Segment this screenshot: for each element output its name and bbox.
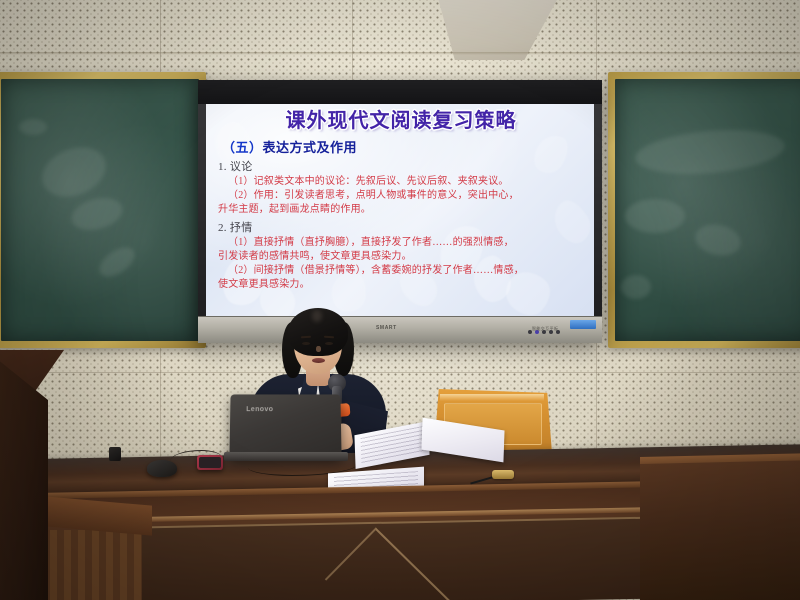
gooseneck-microphone[interactable] [470,470,514,484]
interactive-smartboard[interactable]: 课外现代文阅读复习策略 （五）表达方式及作用 1. 议论 （1）记叙类文本中的议… [198,80,602,342]
slide-line: （2）间接抒情（借景抒情等），含蓄委婉的抒发了作者……情感， [218,264,588,277]
hair-parting [312,310,322,322]
nose [316,346,321,352]
red-smartphone[interactable] [197,455,223,470]
smartboard-power-indicator [570,320,596,329]
slide-block-2: 2. 抒情 （1）直接抒情（直抒胸臆），直接抒发了作者……的强烈情感， 引发读者… [214,219,588,292]
slide-line: 使文章更具感染力。 [218,278,588,291]
slide-section-number: （五） [222,140,263,155]
slide-section-name: 表达方式及作用 [263,140,358,155]
chair-highlight [440,394,544,401]
slide-line: （1）记叙类文本中的议论：先叙后议、先议后叙、夹叙夹议。 [218,175,588,188]
slide-section-heading: （五）表达方式及作用 [222,137,588,156]
chalkboard-left-surface [1,79,199,341]
classroom-photo: 课外现代文阅读复习策略 （五）表达方式及作用 1. 议论 （1）记叙类文本中的议… [0,0,800,600]
phone-screen[interactable] [199,457,221,468]
slide-title: 课外现代文阅读复习策略 [214,111,588,132]
slide-block-heading: 2. 抒情 [218,219,588,235]
slide-line: （1）直接抒情（直抒胸臆），直接抒发了作者……的强烈情感， [218,236,588,249]
chalkboard-left [0,72,206,348]
presentation-slide: 课外现代文阅读复习策略 （五）表达方式及作用 1. 议论 （1）记叙类文本中的议… [206,104,594,316]
microphone-capsule [492,470,514,479]
slide-line: （2）作用：引发读者思考，点明人物或事件的意义，突出中心， [218,189,588,202]
chalkboard-right-surface [615,79,800,341]
usb-drive[interactable] [109,447,121,461]
ceiling-trim [0,52,800,55]
mouth [312,358,325,363]
smartboard-top-bezel [198,80,602,104]
laptop-lid[interactable]: Lenovo [229,394,341,457]
slide-line: 升华主题，起到画龙点睛的作用。 [218,203,588,216]
computer-mouse[interactable] [147,460,177,477]
smartboard-screen[interactable]: 课外现代文阅读复习策略 （五）表达方式及作用 1. 议论 （1）记叙类文本中的议… [206,104,594,316]
slide-line: 引发读者的感情共鸣，使文章更具感染力。 [218,250,588,263]
slide-block-1: 1. 议论 （1）记叙类文本中的议论：先叙后议、先议后叙、夹叙夹议。 （2）作用… [214,158,588,217]
smartboard-brand-label: 智能交互平板 [532,326,558,332]
podium-right-column [640,460,800,600]
chalkboard-right [608,72,800,348]
slide-block-heading: 1. 议论 [218,158,588,174]
laptop-brand-label: Lenovo [246,406,273,413]
wall-panel-seam [0,372,800,373]
